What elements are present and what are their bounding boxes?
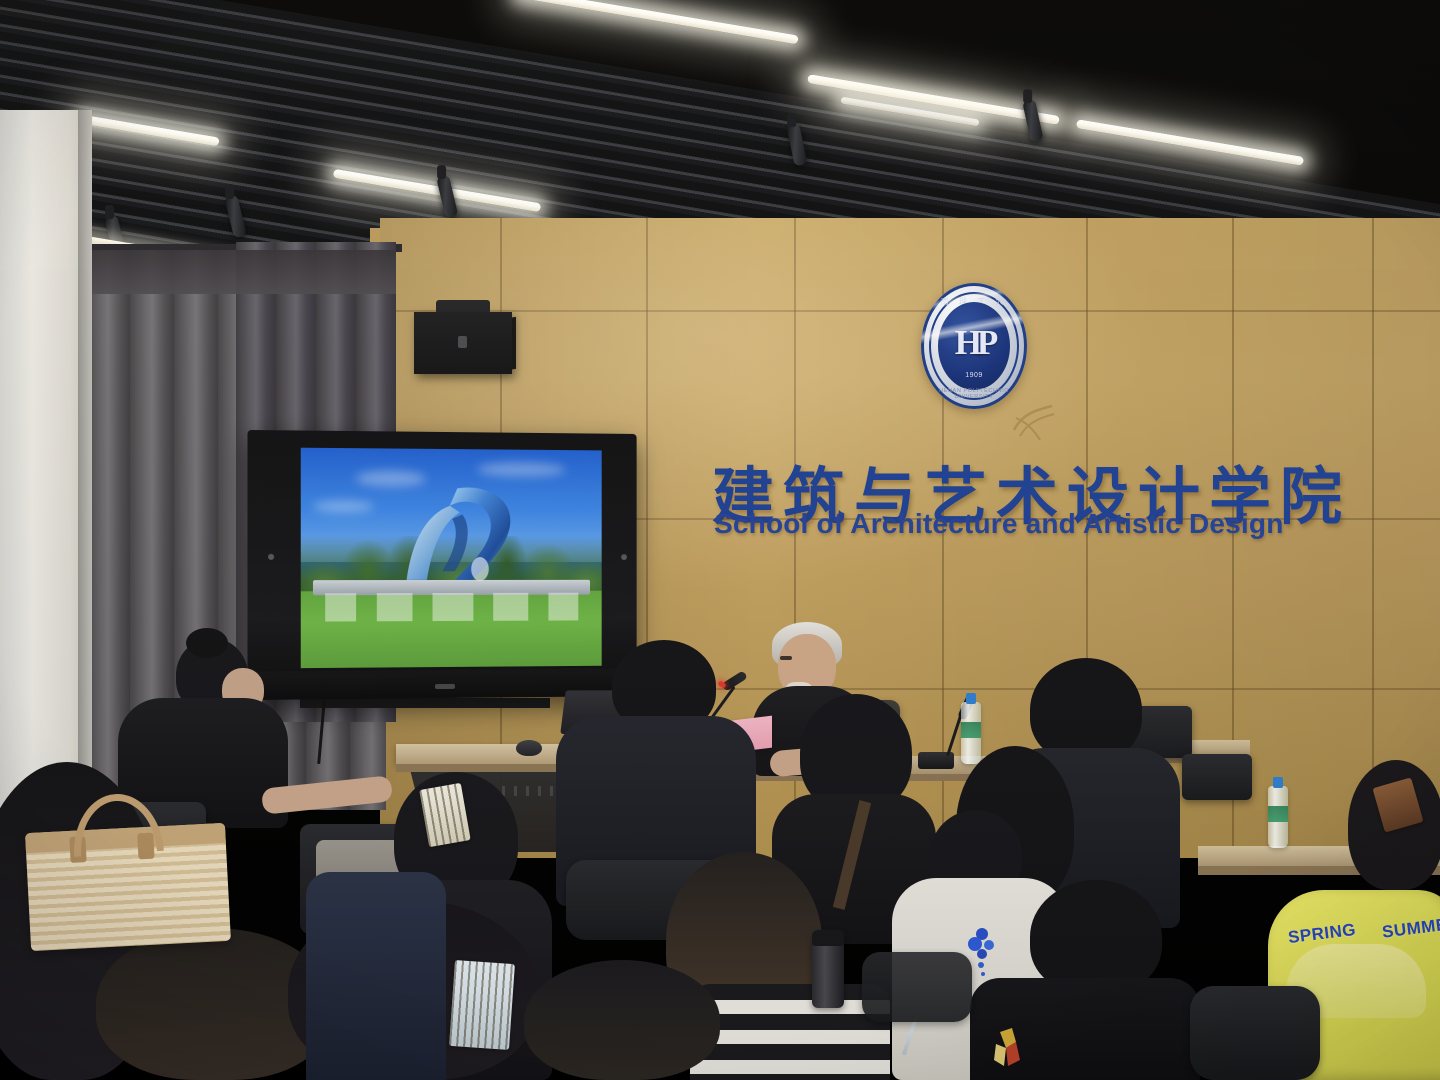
screen-side-button-right[interactable] [621,554,627,560]
screen-brand-logo [435,684,455,689]
emblem-english-arc: HENAN POLYTECHNIC UNIVERSITY [921,388,1027,400]
hair-clip-foreground [449,960,515,1050]
hair-clip-foreground-teeth [449,960,515,1050]
water-bottle-2[interactable] [1268,786,1288,848]
curtain-header [86,250,396,294]
shirt-print-graphic [986,1026,1030,1080]
chair-mid-right[interactable] [862,952,972,1022]
screen-side-button-left[interactable] [268,554,274,560]
thermos-flask[interactable] [812,930,844,1008]
lecture-hall-photo: 河 南 理 工 大 学 HP 1909 HENAN POLYTECHNIC UN… [0,0,1440,1080]
bottle-label-1 [961,722,981,738]
display-stand [300,698,550,708]
screen-sculpture [399,484,525,593]
bottle-label-2 [1268,806,1288,822]
emblem-year: 1909 [921,372,1027,379]
chair-right-2[interactable] [1182,754,1252,800]
presentation-screen[interactable] [247,430,636,700]
wall-english-title: School of Architecture and Artistic Desi… [714,508,1334,540]
screen-steps [325,593,578,622]
university-emblem: 河 南 理 工 大 学 HP 1909 HENAN POLYTECHNIC UN… [921,283,1027,409]
wall-seal-mark [1010,400,1056,442]
chair-foreground-right[interactable] [1190,986,1320,1080]
striped-top [690,984,890,1080]
emblem-monogram: HP [921,323,1027,363]
computer-mouse[interactable] [516,740,542,756]
wall-speaker [414,312,512,374]
water-bottle-1[interactable] [961,702,981,764]
thermos-lid [812,930,844,946]
screen-content [301,448,602,668]
linear-light-1 [516,0,799,44]
